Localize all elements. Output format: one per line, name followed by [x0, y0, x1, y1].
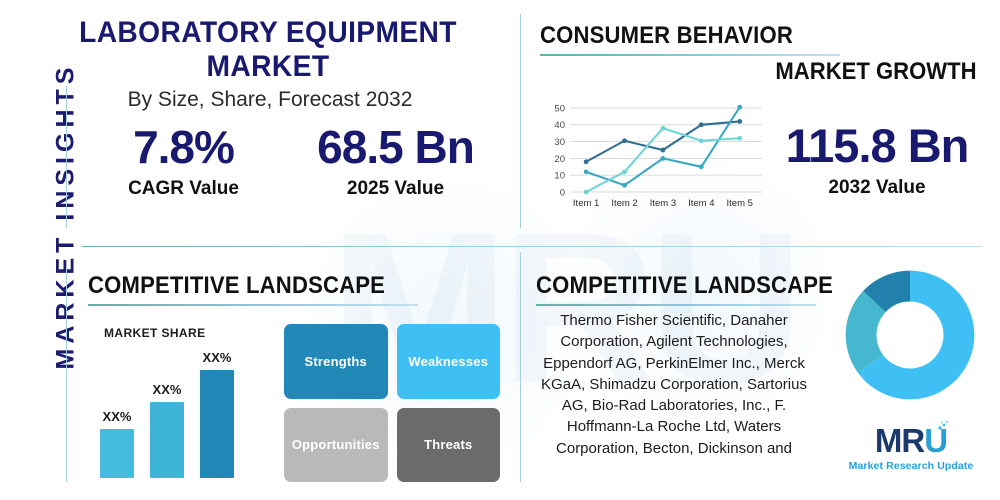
bar-rect: [200, 370, 234, 478]
x-axis-tick: Item 3: [650, 198, 676, 209]
swot-cell-strengths[interactable]: Strengths: [284, 324, 388, 399]
section-title-competitive-landscape-left: COMPETITIVE LANDSCAPE: [88, 272, 392, 300]
stat-2032-value: 115.8 Bn: [762, 122, 992, 169]
section-header-consumer-behavior: CONSUMER BEHAVIOR: [540, 22, 840, 56]
stat-2025-label: 2025 Value: [288, 178, 503, 200]
divider-vertical-mid-bottom: [520, 252, 521, 482]
droplet-icon: [936, 419, 950, 433]
mru-logo-tagline: Market Research Update: [848, 460, 974, 472]
y-axis-tick: 50: [554, 103, 565, 114]
page-title: LABORATORY EQUIPMENT MARKET: [61, 16, 475, 84]
competitor-list: Thermo Fisher Scientific, Danaher Corpor…: [534, 310, 814, 459]
bar-value-label: XX%: [150, 382, 184, 397]
stat-cagr: 7.8% CAGR Value: [96, 124, 271, 200]
x-axis-tick: Item 2: [611, 198, 637, 209]
infographic-root: MRU MARKET INSIGHTS LABORATORY EQUIPMENT…: [0, 0, 1000, 500]
section-title-competitive-landscape-right: COMPETITIVE LANDSCAPE: [536, 272, 794, 300]
bar-column: XX%: [200, 350, 234, 478]
bar-value-label: XX%: [200, 350, 234, 365]
x-axis-tick: Item 4: [688, 198, 714, 209]
stat-2025-value: 68.5 Bn: [288, 124, 503, 170]
stat-cagr-label: CAGR Value: [96, 178, 271, 200]
y-axis-tick: 40: [554, 120, 565, 131]
divider-vertical-mid-top: [520, 14, 521, 228]
mru-logo: MRU Market Research Update: [848, 424, 974, 472]
bar-value-label: XX%: [100, 409, 134, 424]
stat-2025: 68.5 Bn 2025 Value: [288, 124, 503, 200]
y-axis-tick: 0: [560, 187, 565, 198]
y-axis-tick: 20: [554, 154, 565, 165]
y-axis-tick: 30: [554, 137, 565, 148]
swot-grid: StrengthsWeaknessesOpportunitiesThreats: [284, 324, 500, 482]
bar-column: XX%: [100, 409, 134, 478]
swot-cell-opportunities[interactable]: Opportunities: [284, 408, 388, 483]
section-rule-competitive-landscape-left: [88, 304, 418, 306]
bar-rect: [100, 429, 134, 478]
bar-chart: XX%XX%XX%: [100, 336, 260, 478]
x-axis-tick: Item 5: [727, 198, 753, 209]
donut-chart: [843, 268, 977, 402]
section-rule-consumer-behavior: [540, 54, 840, 56]
x-axis-tick: Item 1: [573, 198, 599, 209]
stat-cagr-value: 7.8%: [96, 124, 271, 170]
mru-logo-mr: MR: [875, 422, 924, 459]
bar-column: XX%: [150, 382, 184, 478]
section-header-competitive-landscape-left: COMPETITIVE LANDSCAPE: [88, 272, 418, 306]
divider-horizontal-center: [82, 246, 982, 247]
section-rule-competitive-landscape-right: [536, 304, 816, 306]
bar-rect: [150, 402, 184, 478]
divider-vertical-left-top: [66, 86, 67, 228]
line-chart-svg: 01020304050Item 1Item 2Item 3Item 4Item …: [540, 100, 765, 220]
stat-2032-label: 2032 Value: [762, 177, 992, 199]
section-title-market-growth: MARKET GROWTH: [769, 58, 982, 86]
y-axis-tick: 10: [554, 171, 565, 182]
swot-cell-weaknesses[interactable]: Weaknesses: [397, 324, 501, 399]
line-chart: 01020304050Item 1Item 2Item 3Item 4Item …: [540, 100, 765, 220]
mru-logo-mark: MRU: [875, 424, 947, 457]
stat-2032: 115.8 Bn 2032 Value: [762, 122, 992, 199]
section-title-consumer-behavior: CONSUMER BEHAVIOR: [540, 22, 816, 50]
divider-vertical-left-bottom: [66, 268, 67, 482]
section-header-competitive-landscape-right: COMPETITIVE LANDSCAPE: [536, 272, 816, 306]
page-subtitle: By Size, Share, Forecast 2032: [90, 88, 450, 112]
swot-cell-threats[interactable]: Threats: [397, 408, 501, 483]
